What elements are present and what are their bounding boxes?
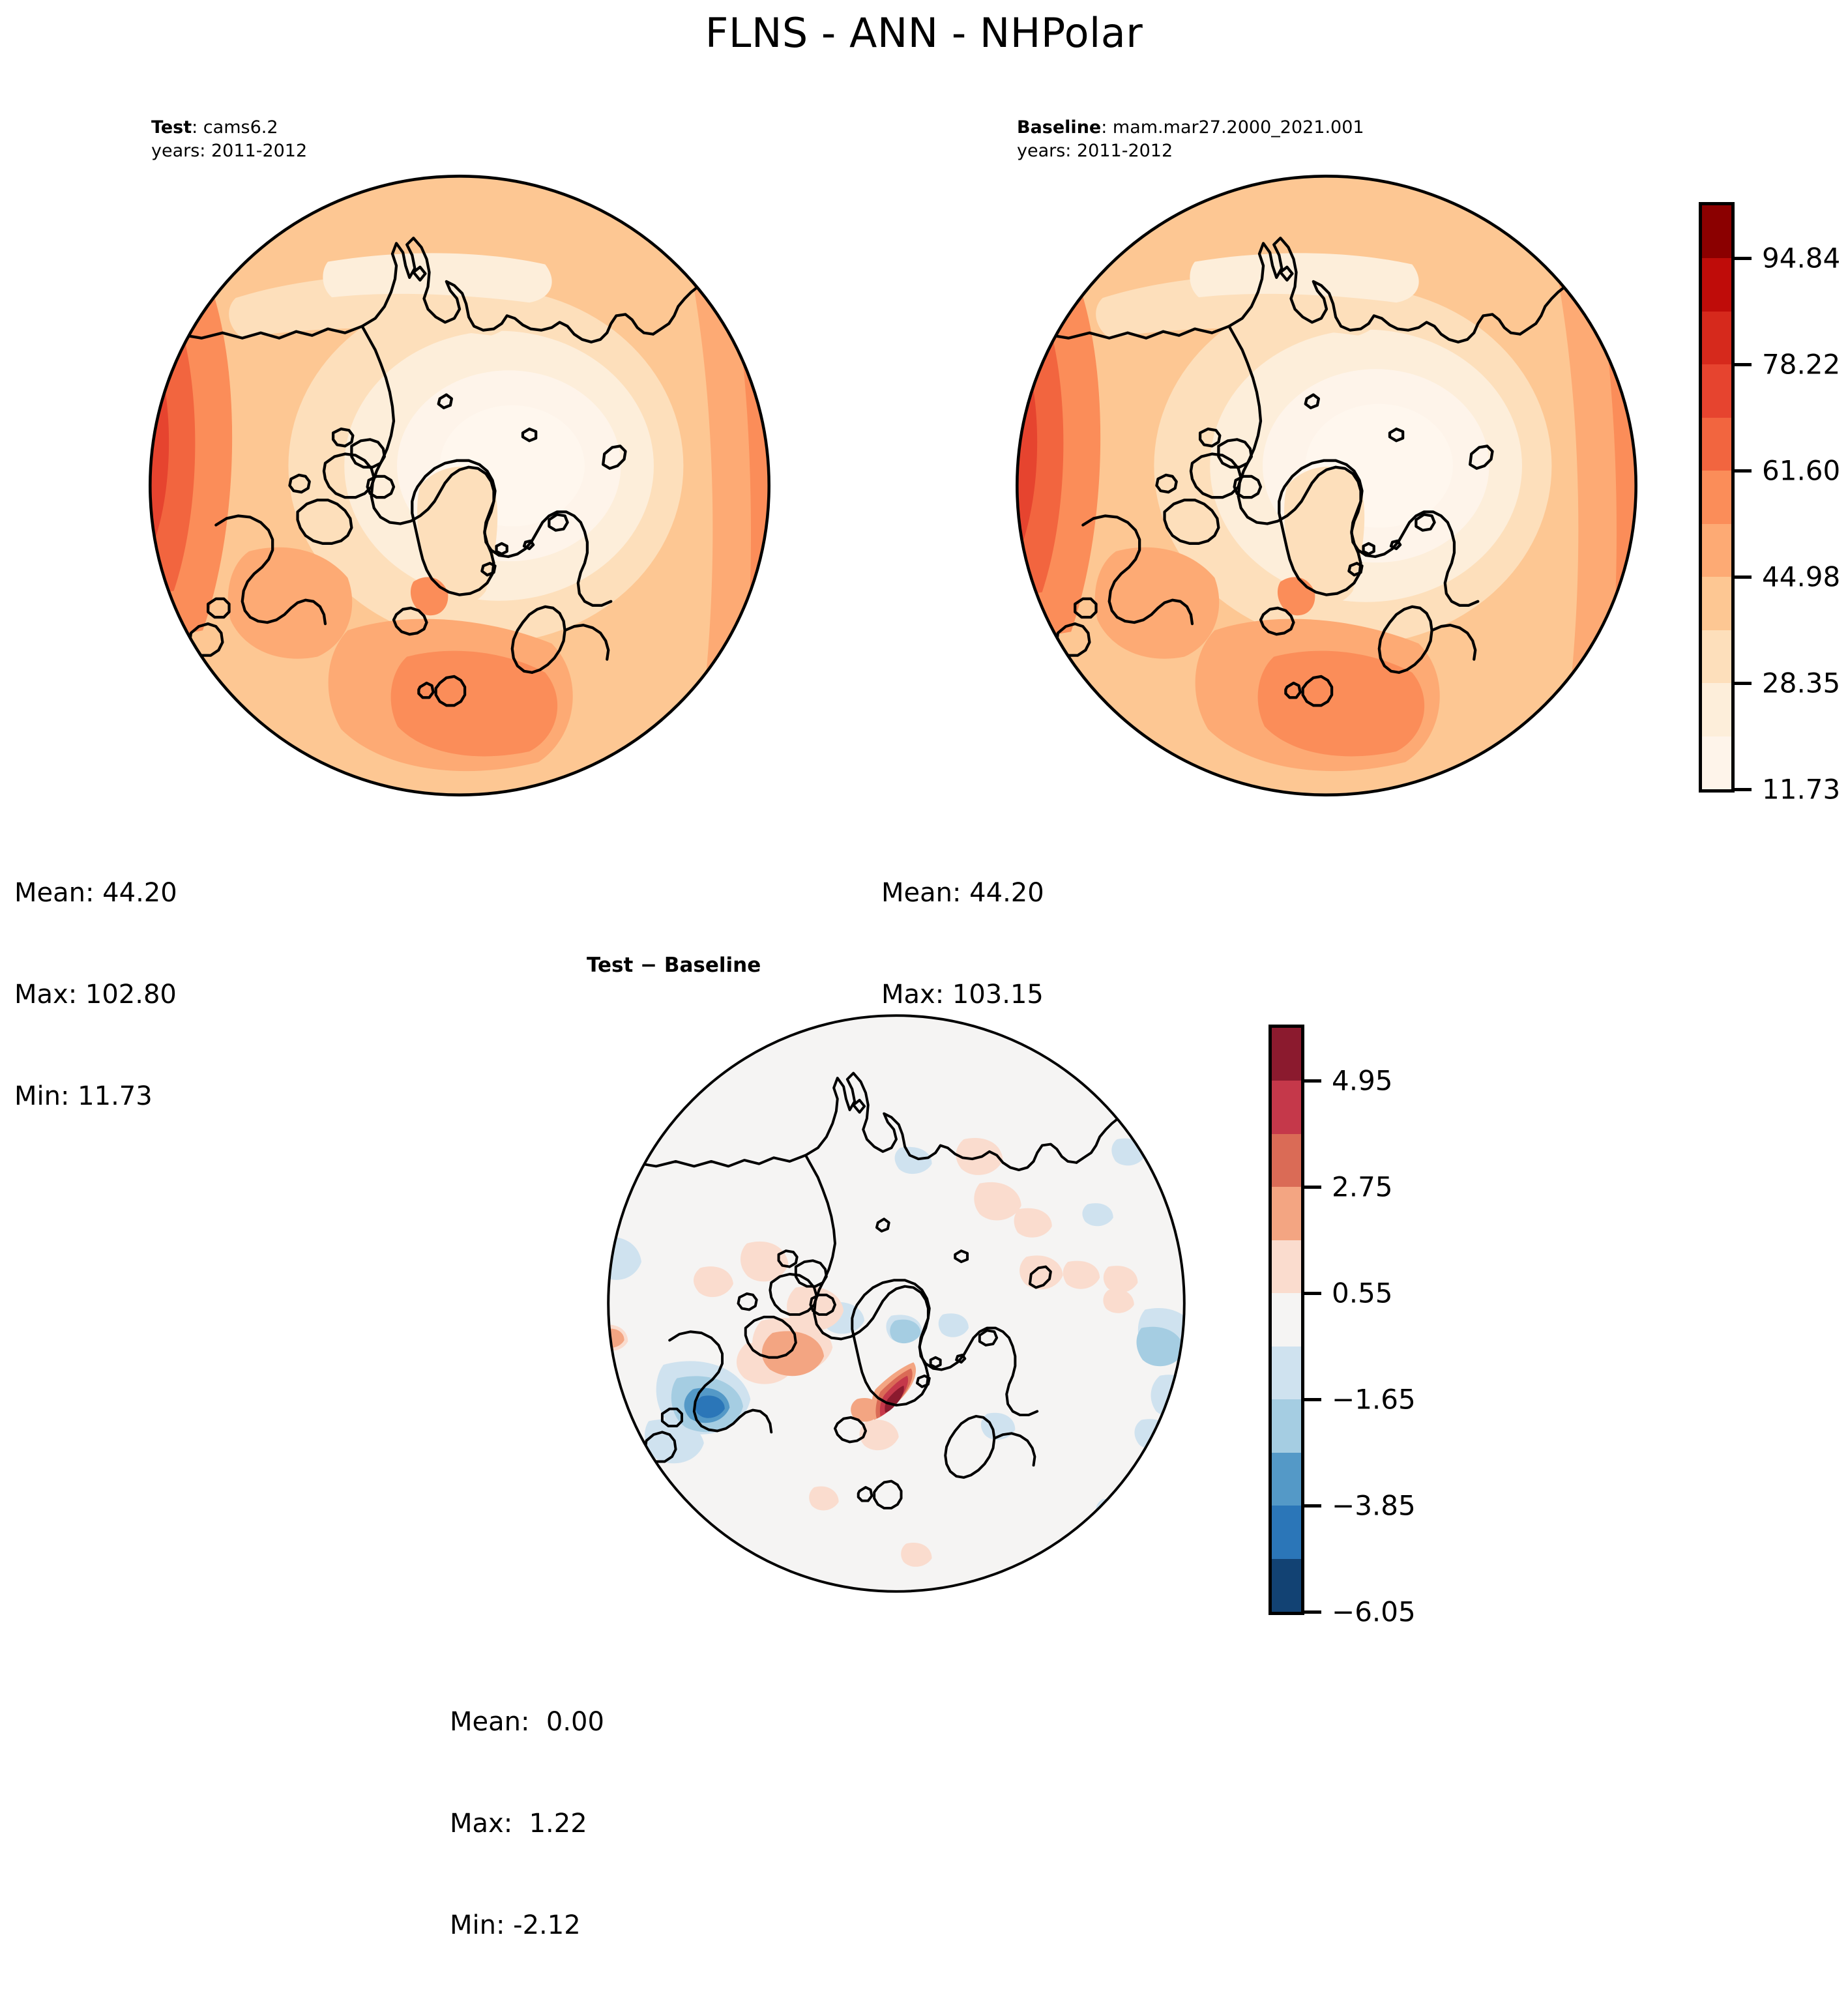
baseline-stat-mean: Mean: 44.20 <box>881 876 1044 910</box>
colorbar-tick-label: 78.22 <box>1762 349 1840 381</box>
colorbar-band <box>1272 1134 1301 1187</box>
colorbar-band <box>1272 1399 1301 1452</box>
test-case-name: : cams6.2 <box>192 117 278 138</box>
colorbar-band <box>1272 1187 1301 1240</box>
colorbar-tick-label: 4.95 <box>1332 1065 1393 1097</box>
main-colorbar[interactable]: 94.8478.2261.6044.9828.3511.73 <box>1699 202 1848 793</box>
colorbar-band <box>1702 205 1731 258</box>
colorbar-tick-mark <box>1304 1398 1321 1401</box>
colorbar-tick-label: 0.55 <box>1332 1277 1393 1309</box>
test-stat-max: Max: 102.80 <box>14 978 177 1012</box>
colorbar-band <box>1272 1081 1301 1133</box>
baseline-map-field <box>997 156 1656 815</box>
test-map-field <box>130 156 789 815</box>
colorbar-tick-label: −1.65 <box>1332 1384 1416 1416</box>
colorbar-tick-label: −6.05 <box>1332 1596 1416 1628</box>
colorbar-band <box>1702 471 1731 523</box>
test-map-svg <box>130 156 789 815</box>
baseline-label: Baseline <box>1017 117 1101 138</box>
difference-stat-min: Min: -2.12 <box>450 1908 604 1942</box>
colorbar-band <box>1702 630 1731 683</box>
difference-stat-max: Max: 1.22 <box>450 1807 604 1841</box>
test-stat-min: Min: 11.73 <box>14 1079 177 1113</box>
colorbar-tick-label: 28.35 <box>1762 667 1840 699</box>
colorbar-tick-mark <box>1304 1186 1321 1189</box>
colorbar-tick-mark <box>1735 363 1752 366</box>
colorbar-band <box>1702 364 1731 417</box>
colorbar-tick-label: 44.98 <box>1762 561 1840 593</box>
colorbar-tick-mark <box>1735 788 1752 791</box>
difference-map-field <box>590 997 1203 1610</box>
baseline-case-name: : mam.mar27.2000_2021.001 <box>1101 117 1364 138</box>
difference-colorbar-strip[interactable] <box>1269 1025 1304 1615</box>
colorbar-band <box>1702 312 1731 364</box>
colorbar-band <box>1272 1453 1301 1506</box>
colorbar-band <box>1272 1293 1301 1346</box>
colorbar-tick-mark <box>1735 469 1752 473</box>
difference-colorbar[interactable]: 4.952.750.55−1.65−3.85−6.05 <box>1269 1025 1431 1615</box>
colorbar-tick-label: 11.73 <box>1762 774 1840 806</box>
colorbar-band <box>1272 1559 1301 1612</box>
colorbar-tick-mark <box>1735 257 1752 260</box>
figure-title: FLNS - ANN - NHPolar <box>0 9 1848 57</box>
colorbar-tick-label: 2.75 <box>1332 1171 1393 1203</box>
colorbar-tick-mark <box>1304 1079 1321 1083</box>
test-map[interactable] <box>130 156 789 815</box>
test-stats: Mean: 44.20 Max: 102.80 Min: 11.73 <box>14 808 177 1181</box>
colorbar-tick-mark <box>1304 1504 1321 1507</box>
difference-map-svg <box>590 997 1203 1610</box>
colorbar-band <box>1272 1028 1301 1081</box>
test-panel-header: Test: cams6.2 years: 2011-2012 <box>151 116 307 162</box>
colorbar-band <box>1702 258 1731 311</box>
colorbar-band <box>1702 418 1731 471</box>
colorbar-tick-label: 61.60 <box>1762 455 1840 487</box>
difference-map[interactable] <box>590 997 1203 1610</box>
colorbar-tick-mark <box>1735 575 1752 579</box>
colorbar-band <box>1272 1506 1301 1558</box>
colorbar-tick-label: 94.84 <box>1762 242 1840 274</box>
difference-stat-mean: Mean: 0.00 <box>450 1705 604 1739</box>
colorbar-band <box>1702 683 1731 736</box>
colorbar-band <box>1702 524 1731 577</box>
colorbar-tick-mark <box>1304 1610 1321 1614</box>
colorbar-tick-mark <box>1735 682 1752 685</box>
colorbar-band <box>1272 1347 1301 1399</box>
baseline-panel-header: Baseline: mam.mar27.2000_2021.001 years:… <box>1017 116 1364 162</box>
colorbar-band <box>1272 1240 1301 1293</box>
colorbar-tick-mark <box>1304 1292 1321 1295</box>
difference-title: Test − Baseline <box>587 954 761 977</box>
colorbar-band <box>1702 577 1731 630</box>
colorbar-tick-label: −3.85 <box>1332 1490 1416 1522</box>
baseline-map-svg <box>997 156 1656 815</box>
baseline-map[interactable] <box>997 156 1656 815</box>
colorbar-band <box>1702 736 1731 789</box>
difference-stats: Mean: 0.00 Max: 1.22 Min: -2.12 <box>450 1637 604 2010</box>
test-stat-mean: Mean: 44.20 <box>14 876 177 910</box>
test-label: Test <box>151 117 192 138</box>
main-colorbar-strip[interactable] <box>1699 202 1735 793</box>
